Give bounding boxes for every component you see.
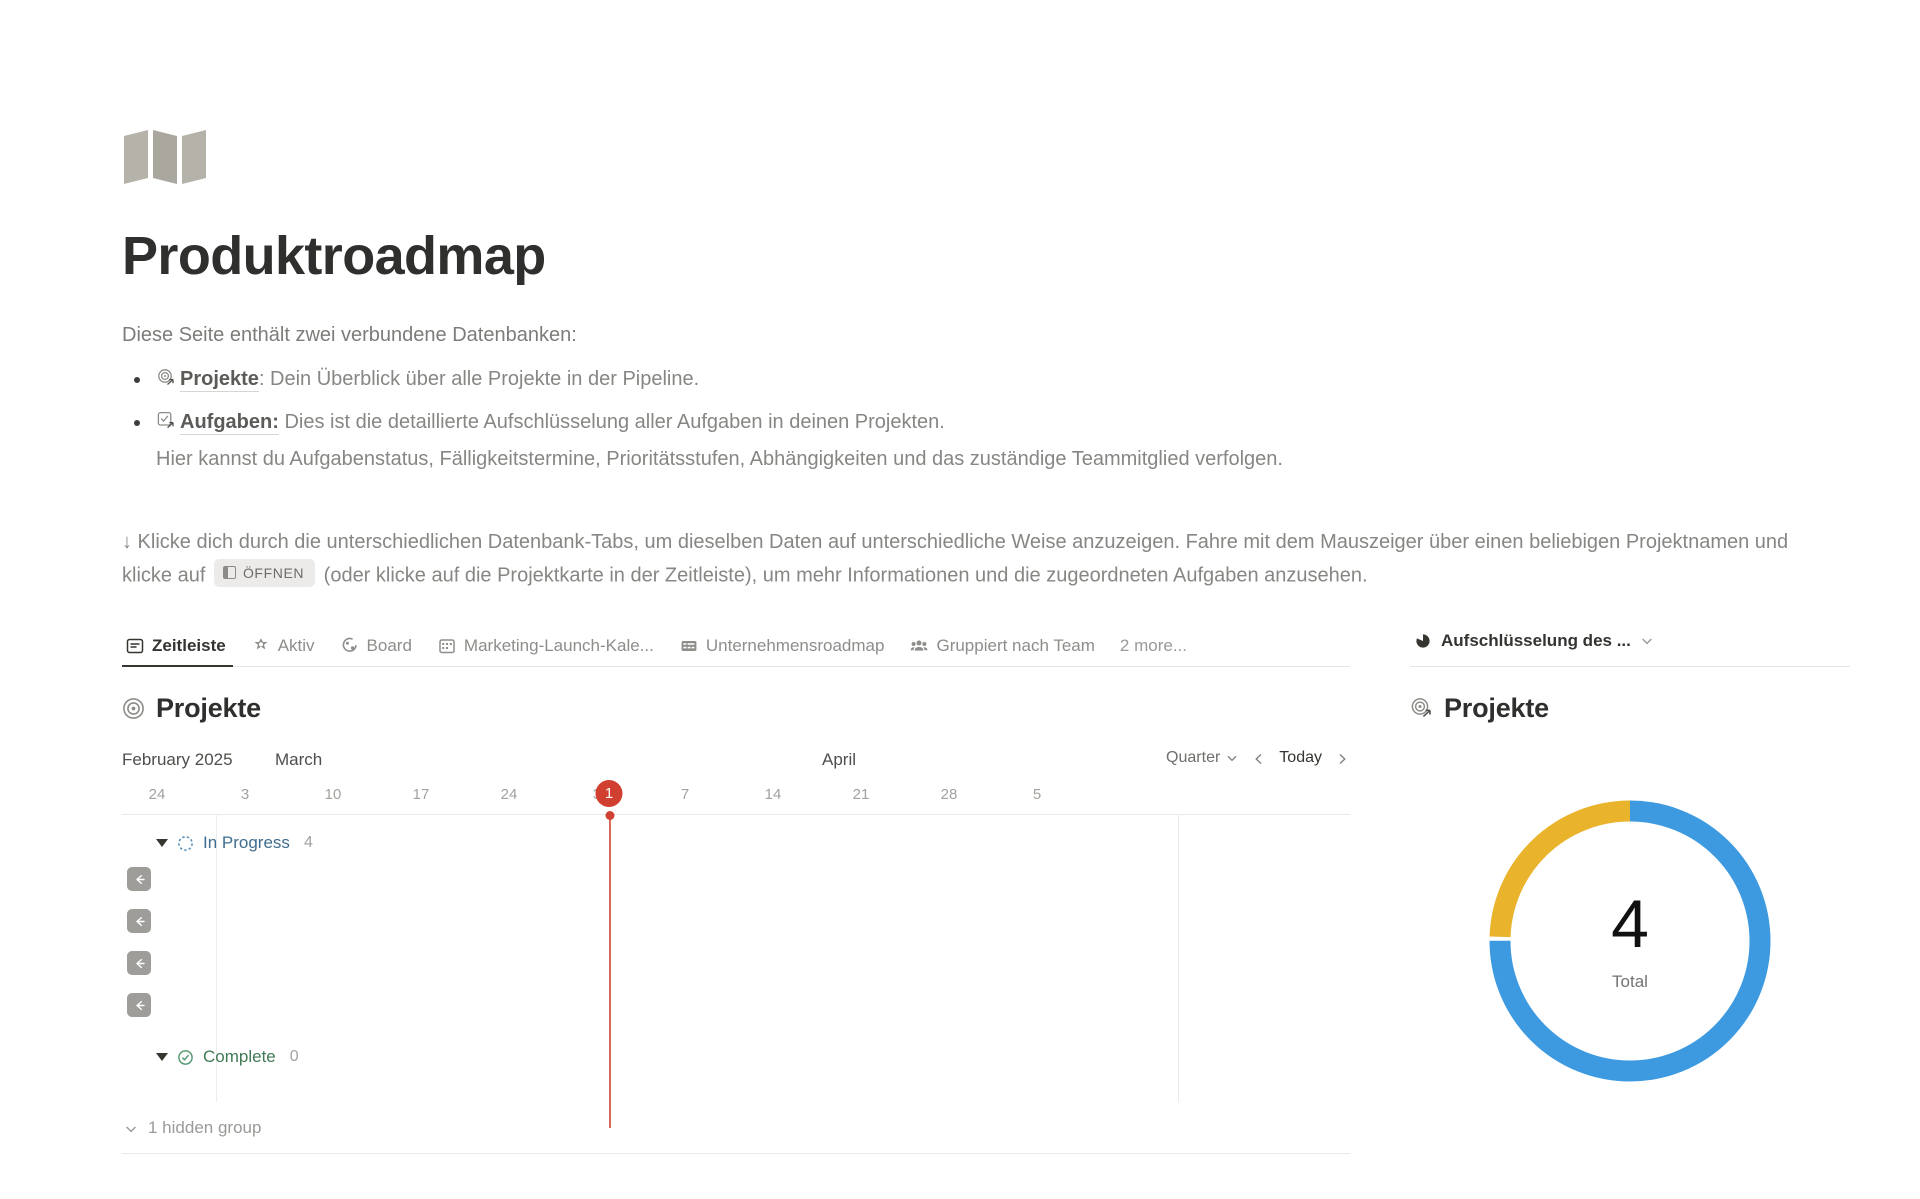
chart-database-title-text: Projekte (1444, 693, 1549, 724)
today-line (609, 815, 611, 1128)
timeline-bottom-divider (122, 1153, 1350, 1154)
today-dot-icon (605, 811, 614, 820)
donut-total-label: Total (1612, 972, 1648, 992)
date-tick: 14 (765, 786, 782, 803)
date-tick: 17 (413, 786, 430, 803)
month-label: March (275, 750, 322, 770)
month-label: April (822, 750, 856, 770)
table-icon (680, 637, 698, 655)
chevron-down-icon (124, 1121, 138, 1135)
sidepeek-icon (223, 566, 236, 579)
tabs-more-button[interactable]: 2 more... (1108, 636, 1197, 666)
row-collapse-button[interactable] (127, 993, 151, 1017)
database-title: Projekte (122, 693, 1350, 724)
date-tick: 3 (241, 786, 249, 803)
people-icon (910, 637, 928, 655)
group-header-complete[interactable]: Complete 0 (156, 1047, 299, 1067)
row-collapse-button[interactable] (127, 909, 151, 933)
donut-center: 4 Total (1480, 791, 1780, 1091)
donut-total-value: 4 (1611, 890, 1649, 958)
chevron-down-icon (1225, 751, 1239, 765)
timeline-tick-row: 24 3 10 17 24 3 7 14 21 28 5 1 (122, 782, 1350, 814)
list-item-text: : Dein Überblick über alle Projekte in d… (259, 368, 699, 390)
chevron-left-icon[interactable] (1253, 752, 1265, 764)
chevron-right-icon[interactable] (1336, 752, 1348, 764)
date-tick: 10 (325, 786, 342, 803)
row-collapse-button[interactable] (127, 951, 151, 975)
list-item-text: Dies ist die detaillierte Aufschlüsselun… (279, 411, 945, 433)
tab-label: Aktiv (278, 636, 315, 656)
today-button[interactable]: Today (1279, 749, 1322, 767)
hidden-group-label: 1 hidden group (148, 1118, 261, 1138)
timeline-grid: In Progress 4 (122, 814, 1350, 1102)
database-title-text: Projekte (156, 693, 261, 724)
open-chip[interactable]: ÖFFNEN (214, 559, 315, 587)
link-aufgaben[interactable]: Aufgaben: (180, 411, 279, 435)
zoom-level-label: Quarter (1166, 749, 1220, 767)
database-list: Projekte: Dein Überblick über alle Proje… (122, 364, 1920, 475)
caret-down-icon[interactable] (156, 1053, 168, 1061)
open-chip-label: ÖFFNEN (243, 562, 304, 584)
chart-tabbar: Aufschlüsselung des ... (1410, 626, 1850, 667)
page-content: Produktroadmap Diese Seite enthält zwei … (0, 0, 1920, 1106)
tab-zeitleiste[interactable]: Zeitleiste (122, 636, 239, 666)
timeline-panel: Zeitleiste Aktiv (122, 626, 1350, 1106)
howto-suffix: (oder klicke auf die Projektkarte in der… (324, 564, 1368, 586)
chart-database-title: Projekte (1410, 693, 1850, 724)
group-name: Complete (203, 1047, 276, 1067)
grid-line (1178, 815, 1179, 1102)
date-tick: 24 (149, 786, 166, 803)
donut-chart[interactable]: 4 Total (1480, 791, 1780, 1091)
list-item-subtext: Hier kannst du Aufgabenstatus, Fälligkei… (156, 444, 1920, 475)
date-tick: 28 (941, 786, 958, 803)
target-link-icon (156, 367, 176, 387)
date-tick: 21 (853, 786, 870, 803)
tab-board[interactable]: Board (328, 636, 425, 666)
star-icon (252, 637, 270, 655)
target-link-icon (1410, 697, 1433, 720)
zoom-level-selector[interactable]: Quarter (1166, 749, 1239, 767)
tab-aktiv[interactable]: Aktiv (239, 636, 328, 666)
howto-paragraph: ↓ Klicke dich durch die unterschiedliche… (122, 527, 1802, 592)
timeline-view: February 2025 March April Quarter (122, 750, 1350, 1102)
link-projekte[interactable]: Projekte (180, 368, 259, 392)
date-tick: 7 (681, 786, 689, 803)
donut-chart-container: 4 Total (1410, 776, 1850, 1106)
timeline-icon (126, 637, 144, 655)
page-intro: Diese Seite enthält zwei verbundene Date… (122, 321, 1920, 350)
target-icon (122, 697, 145, 720)
tab-unternehmensroadmap[interactable]: Unternehmensroadmap (667, 636, 898, 666)
task-link-icon (156, 410, 176, 430)
tab-label: Board (367, 636, 412, 656)
tab-gruppiert-nach-team[interactable]: Gruppiert nach Team (897, 636, 1107, 666)
date-tick: 5 (1033, 786, 1041, 803)
map-icon (122, 128, 1920, 184)
chart-panel: Aufschlüsselung des ... Proj (1410, 626, 1850, 1106)
group-header-in-progress[interactable]: In Progress 4 (156, 833, 313, 853)
caret-down-icon[interactable] (156, 839, 168, 847)
tab-label: Gruppiert nach Team (936, 636, 1094, 656)
hidden-group-row[interactable]: 1 hidden group (124, 1118, 261, 1138)
row-collapse-button[interactable] (127, 867, 151, 891)
group-count: 0 (290, 1048, 299, 1066)
tab-label: Zeitleiste (152, 636, 226, 656)
month-label: February 2025 (122, 750, 233, 770)
check-circle-icon (177, 1049, 194, 1066)
notion-page: Produktroadmap Diese Seite enthält zwei … (0, 0, 1920, 1199)
in-progress-icon (177, 835, 194, 852)
piechart-icon (1414, 632, 1432, 650)
board-icon (341, 637, 359, 655)
date-tick: 24 (501, 786, 518, 803)
timeline-controls: Quarter Today (1166, 749, 1348, 767)
tab-label: Unternehmensroadmap (706, 636, 885, 656)
group-name: In Progress (203, 833, 290, 853)
today-marker-badge: 1 (596, 780, 623, 807)
chart-tab-label[interactable]: Aufschlüsselung des ... (1441, 631, 1631, 651)
timeline-month-row: February 2025 March April Quarter (122, 750, 1350, 776)
tab-marketing-launch-kalender[interactable]: Marketing-Launch-Kale... (425, 636, 667, 666)
page-title: Produktroadmap (122, 227, 1920, 285)
list-item: Aufgaben: Dies ist die detaillierte Aufs… (122, 407, 1920, 475)
list-item: Projekte: Dein Überblick über alle Proje… (122, 364, 1920, 395)
tab-label: Marketing-Launch-Kale... (464, 636, 654, 656)
chevron-down-icon[interactable] (1640, 634, 1654, 648)
panels-row: Zeitleiste Aktiv (122, 626, 1920, 1106)
calendar-icon (438, 637, 456, 655)
group-count: 4 (304, 834, 313, 852)
database-tabbar: Zeitleiste Aktiv (122, 626, 1350, 667)
